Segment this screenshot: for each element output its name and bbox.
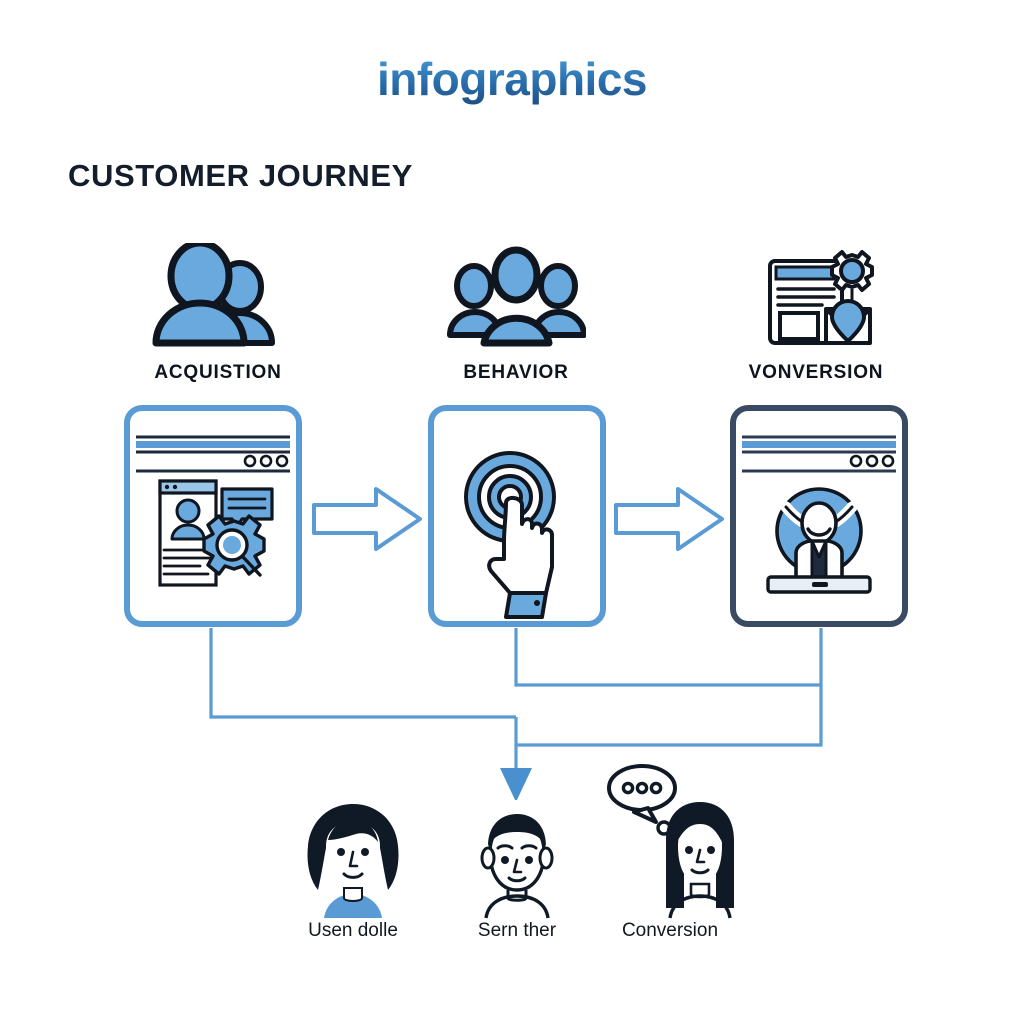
connector-lines	[0, 620, 1024, 800]
arrow-acquisition-to-behavior	[312, 483, 424, 555]
stage-card-acquisition[interactable]	[124, 405, 302, 627]
down-arrow-head	[500, 768, 532, 800]
browser-profile-gear-search-icon	[130, 411, 296, 621]
woman-long-hair-thought-bubble-avatar	[604, 760, 764, 920]
browser-agent-desk-icon	[736, 411, 902, 621]
target-click-hand-icon	[434, 411, 600, 621]
stage-card-conversion[interactable]	[730, 405, 908, 627]
infographic-canvas: infographics CUSTOMER JOURNEY	[0, 0, 1024, 1024]
document-gear-pin-icon	[752, 243, 892, 348]
person-label-3: Conversion	[570, 920, 770, 942]
man-short-hair-avatar	[452, 800, 582, 920]
stage-label-acquisition: ACQUISTION	[78, 362, 358, 384]
stage-label-behavior: BEHAVIOR	[376, 362, 656, 384]
three-people-group-icon	[446, 243, 586, 348]
woman-curly-hair-avatar	[288, 800, 418, 920]
stage-label-conversion: VONVERSION	[676, 362, 956, 384]
stage-card-behavior[interactable]	[428, 405, 606, 627]
arrow-behavior-to-conversion	[614, 483, 726, 555]
section-title: CUSTOMER JOURNEY	[68, 158, 413, 194]
two-people-icon	[148, 243, 288, 348]
page-title: infographics	[0, 52, 1024, 106]
